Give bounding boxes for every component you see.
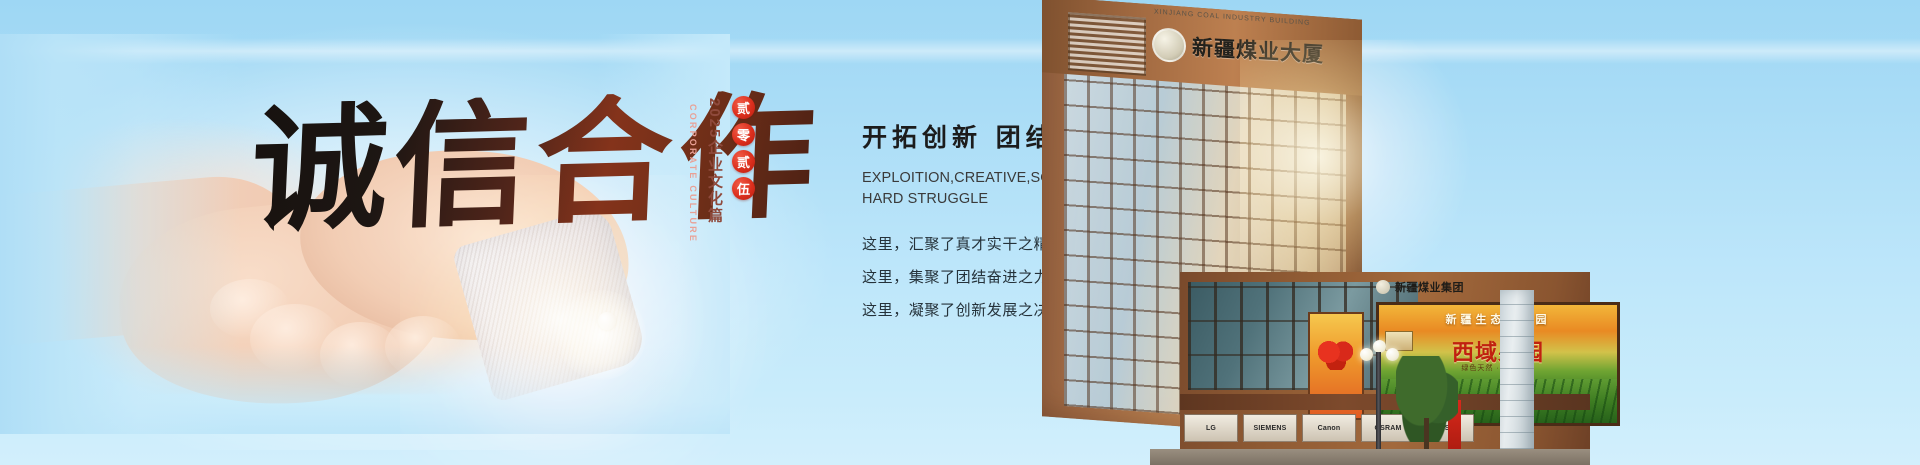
knuckle-highlight <box>385 316 461 378</box>
group-logo-icon <box>1376 280 1390 294</box>
tower-sign-text: 新疆煤业大厦 <box>1192 31 1324 68</box>
billboard-top-text: 新疆生态大果园 <box>1379 311 1617 327</box>
shopfront-sign: LG <box>1184 414 1238 442</box>
company-logo-icon <box>1152 27 1186 63</box>
side-tower-slab <box>1500 290 1534 465</box>
ground-strip <box>1150 449 1590 465</box>
shopfront-sign: Canon <box>1302 414 1356 442</box>
vertical-chinese-label: 2025企业文化篇 <box>704 98 725 224</box>
year-seal: 伍 <box>732 177 755 200</box>
tower-louver-vent <box>1068 12 1146 76</box>
vertical-side-label: CORPORATE CULTURE 2025企业文化篇 贰 零 贰 伍 <box>688 92 755 272</box>
shopfront-sign: SIEMENS <box>1243 414 1297 442</box>
cuff-button-icon <box>598 312 616 330</box>
lamp-bulb-icon <box>1360 348 1373 361</box>
side-tower-window-grid <box>1500 290 1534 465</box>
year-seal: 贰 <box>732 96 755 119</box>
year-seal: 零 <box>732 123 755 146</box>
year-seal-group: 贰 零 贰 伍 <box>732 96 755 200</box>
building-photo: 新疆煤业大厦 XINJIANG COAL INDUSTRY BUILDING 新… <box>1030 0 1590 465</box>
fruit-graphic-icon <box>1318 340 1354 370</box>
company-culture-banner: 诚信合作 CORPORATE CULTURE 2025企业文化篇 贰 零 贰 伍… <box>0 0 1920 465</box>
vertical-english-label: CORPORATE CULTURE <box>688 104 698 243</box>
podium-sign-text: 新疆煤业集团 <box>1395 279 1464 295</box>
podium-sign: 新疆煤业集团 <box>1376 277 1606 297</box>
tower-sign: 新疆煤业大厦 <box>1152 18 1362 82</box>
year-seal: 贰 <box>732 150 755 173</box>
